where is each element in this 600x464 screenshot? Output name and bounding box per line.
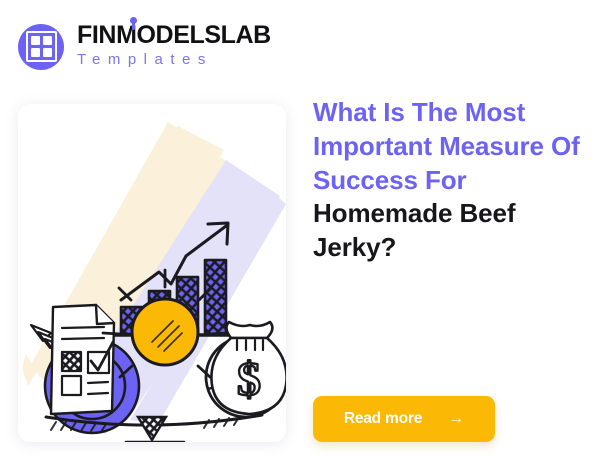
grid-square-icon [26, 31, 57, 62]
business-success-metrics-illustration: $ [18, 104, 286, 442]
brand-mark [18, 24, 64, 70]
money-bag-dollar-symbol: $ [237, 353, 261, 406]
read-more-label: Read more [344, 410, 422, 428]
pin-tail [132, 23, 135, 30]
arrow-right-icon: → [448, 411, 464, 427]
checklist-document-icon [51, 305, 114, 414]
grid-cell [43, 48, 52, 57]
page-title: What Is The Most Important Measure Of Su… [313, 96, 581, 265]
read-more-button[interactable]: Read more → [313, 396, 495, 442]
grid-cell [43, 36, 52, 45]
brand-text: FINMODELSLAB Templates [77, 22, 271, 72]
brand-logo[interactable]: FINMODELSLAB Templates [18, 22, 271, 72]
grid-cell [31, 48, 40, 57]
illustration-card: $ [18, 104, 286, 442]
headline-main: Homemade Beef Jerky? [313, 198, 515, 262]
poster-canvas: FINMODELSLAB Templates [0, 0, 600, 464]
grid-cell [31, 36, 40, 45]
brand-name: FINMODELSLAB [77, 22, 271, 48]
headline-lead: What Is The Most Important Measure Of Su… [313, 97, 580, 195]
brand-subtitle: Templates [77, 49, 271, 72]
location-pin-icon [130, 17, 137, 29]
